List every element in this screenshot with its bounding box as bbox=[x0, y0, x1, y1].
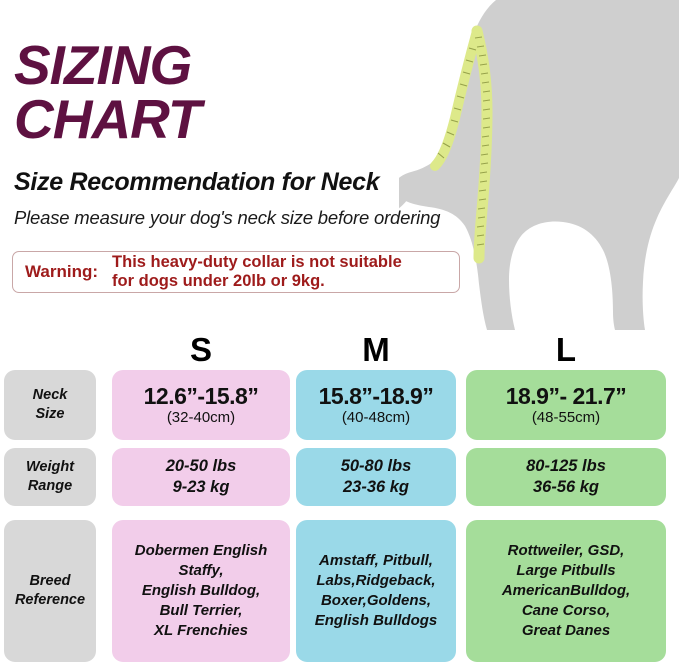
cell-breed-reference-s-line-5: XL Frenchies bbox=[150, 621, 252, 641]
cell-breed-reference-s-line-2: Staffy, bbox=[174, 561, 227, 581]
cell-breed-reference-l-line-3: AmericanBulldog, bbox=[498, 581, 634, 601]
cell-weight-range-s-lbs: 20-50 lbs bbox=[166, 456, 237, 477]
size-header-l: L bbox=[466, 331, 666, 369]
cell-weight-range-l-kg: 36-56 kg bbox=[533, 477, 599, 498]
warning-message: This heavy-duty collar is not suitable f… bbox=[98, 253, 402, 291]
cell-breed-reference-l-line-5: Great Danes bbox=[518, 621, 614, 641]
cell-neck-size-s-inches: 12.6”-15.8” bbox=[144, 383, 259, 409]
row-label-breed-reference-line-2: Reference bbox=[15, 591, 85, 610]
cell-weight-range-m: 50-80 lbs 23-36 kg bbox=[296, 448, 456, 506]
cell-breed-reference-s: Dobermen English Staffy, English Bulldog… bbox=[112, 520, 290, 662]
row-label-breed-reference-line-1: Breed bbox=[29, 572, 70, 591]
warning-label: Warning: bbox=[13, 262, 98, 282]
cell-weight-range-m-kg: 23-36 kg bbox=[343, 477, 409, 498]
cell-weight-range-m-lbs: 50-80 lbs bbox=[341, 456, 412, 477]
cell-breed-reference-m: Amstaff, Pitbull, Labs,Ridgeback, Boxer,… bbox=[296, 520, 456, 662]
row-label-breed-reference: Breed Reference bbox=[4, 520, 96, 662]
header-block: SIZING CHART Size Recommendation for Nec… bbox=[14, 38, 484, 230]
row-label-weight-range: Weight Range bbox=[4, 448, 96, 506]
cell-weight-range-l: 80-125 lbs 36-56 kg bbox=[466, 448, 666, 506]
cell-weight-range-s-kg: 9-23 kg bbox=[173, 477, 230, 498]
cell-breed-reference-m-line-2: Labs,Ridgeback, bbox=[312, 571, 439, 591]
cell-breed-reference-l-line-1: Rottweiler, GSD, bbox=[504, 541, 629, 561]
row-label-weight-range-line-2: Range bbox=[28, 477, 72, 496]
cell-neck-size-s-cm: (32-40cm) bbox=[167, 409, 235, 427]
cell-neck-size-m: 15.8”-18.9” (40-48cm) bbox=[296, 370, 456, 440]
cell-neck-size-m-inches: 15.8”-18.9” bbox=[319, 383, 434, 409]
warning-message-line-2: for dogs under 20lb or 9kg. bbox=[112, 272, 402, 291]
row-label-weight-range-line-1: Weight bbox=[26, 458, 74, 477]
row-label-neck-size: Neck Size bbox=[4, 370, 96, 440]
cell-neck-size-l-cm: (48-55cm) bbox=[532, 409, 600, 427]
size-header-m: M bbox=[296, 331, 456, 369]
cell-breed-reference-l-line-2: Large Pitbulls bbox=[512, 561, 619, 581]
cell-weight-range-s: 20-50 lbs 9-23 kg bbox=[112, 448, 290, 506]
cell-breed-reference-l: Rottweiler, GSD, Large Pitbulls American… bbox=[466, 520, 666, 662]
cell-breed-reference-l-line-4: Cane Corso, bbox=[518, 601, 614, 621]
warning-message-line-1: This heavy-duty collar is not suitable bbox=[112, 253, 402, 272]
cell-weight-range-l-lbs: 80-125 lbs bbox=[526, 456, 606, 477]
page-title-line-1: SIZING bbox=[14, 38, 484, 92]
cell-breed-reference-m-line-3: Boxer,Goldens, bbox=[317, 591, 435, 611]
cell-neck-size-m-cm: (40-48cm) bbox=[342, 409, 410, 427]
size-header-s: S bbox=[112, 331, 290, 369]
cell-breed-reference-m-line-4: English Bulldogs bbox=[311, 611, 442, 631]
page-title-line-2: CHART bbox=[14, 92, 484, 146]
row-label-neck-size-line-2: Size bbox=[35, 405, 64, 424]
cell-neck-size-l-inches: 18.9”- 21.7” bbox=[506, 383, 627, 409]
cell-breed-reference-s-line-4: Bull Terrier, bbox=[156, 601, 247, 621]
cell-breed-reference-s-line-1: Dobermen English bbox=[131, 541, 272, 561]
measure-instruction: Please measure your dog's neck size befo… bbox=[14, 206, 484, 230]
warning-box: Warning: This heavy-duty collar is not s… bbox=[12, 251, 460, 293]
cell-breed-reference-s-line-3: English Bulldog, bbox=[138, 581, 264, 601]
cell-neck-size-l: 18.9”- 21.7” (48-55cm) bbox=[466, 370, 666, 440]
cell-breed-reference-m-line-1: Amstaff, Pitbull, bbox=[315, 551, 437, 571]
page-subtitle: Size Recommendation for Neck bbox=[14, 167, 484, 197]
cell-neck-size-s: 12.6”-15.8” (32-40cm) bbox=[112, 370, 290, 440]
row-label-neck-size-line-1: Neck bbox=[33, 386, 68, 405]
